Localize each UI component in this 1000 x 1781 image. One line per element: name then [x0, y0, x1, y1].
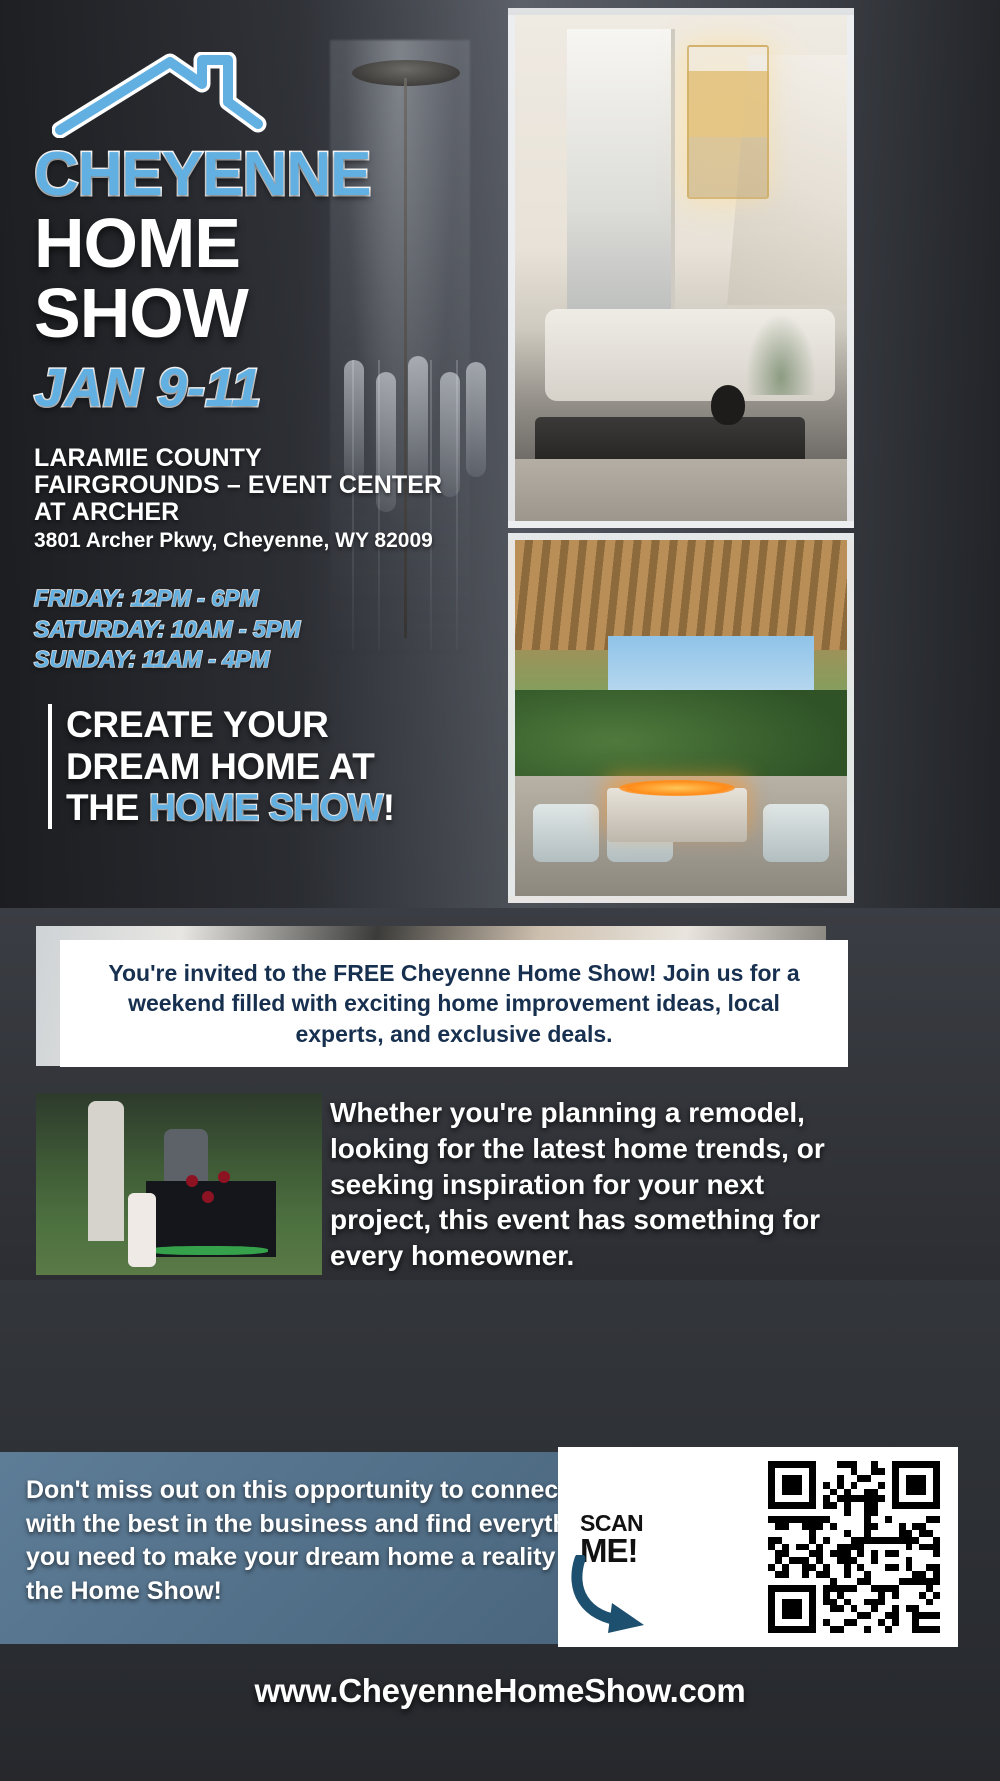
tagline-suffix: ! [383, 787, 395, 828]
qr-code-icon[interactable] [768, 1461, 940, 1633]
tagline-line-1: CREATE YOUR [66, 704, 504, 745]
vendor-booth-photo [36, 1093, 322, 1275]
venue-line-2: FAIRGROUNDS – EVENT CENTER [34, 472, 504, 499]
invite-callout: You're invited to the FREE Cheyenne Home… [60, 940, 848, 1067]
invite-text: You're invited to the FREE Cheyenne Home… [82, 958, 826, 1049]
booth-logo-shape [148, 1246, 268, 1255]
closing-panel: Don't miss out on this opportunity to co… [0, 1452, 648, 1644]
flame-icon [619, 780, 735, 796]
vase-shape [711, 385, 745, 425]
patio-chair-shape [533, 804, 599, 862]
footer-website-url[interactable]: www.CheyenneHomeShow.com [0, 1672, 1000, 1710]
event-dates: JAN 9-11 [34, 361, 504, 415]
rug-shape [515, 459, 847, 521]
brand-name-home: HOME [34, 211, 504, 275]
venue-line-3: AT ARCHER [34, 499, 504, 526]
show-hours-list: FRIDAY: 12PM - 6PM SATURDAY: 10AM - 5PM … [34, 583, 504, 674]
qr-card[interactable]: SCAN ME! [558, 1447, 958, 1647]
fire-pit-shape [607, 788, 747, 842]
tagline-line-3: THE HOME SHOW! [66, 787, 504, 828]
venue-address: 3801 Archer Pkwy, Cheyenne, WY 82009 [34, 529, 504, 553]
wood-ceiling-shape [515, 540, 847, 650]
tagline-prefix: THE [66, 787, 149, 828]
living-room-photo [508, 8, 854, 528]
patio-chair-shape [763, 804, 829, 862]
hours-saturday: SATURDAY: 10AM - 5PM [34, 614, 504, 644]
person-adult-shape [88, 1101, 124, 1241]
headline-block: CHEYENNE HOME SHOW JAN 9-11 LARAMIE COUN… [34, 52, 504, 829]
rose-shape [202, 1191, 214, 1203]
outdoor-patio-photo [508, 533, 854, 903]
tagline-block: CREATE YOUR DREAM HOME AT THE HOME SHOW! [48, 704, 504, 828]
tagline-highlight: HOME SHOW [149, 787, 383, 828]
brand-name-cheyenne: CHEYENNE [34, 145, 504, 205]
venue-block: LARAMIE COUNTY FAIRGROUNDS – EVENT CENTE… [34, 445, 504, 526]
house-roof-outline-icon [52, 52, 352, 138]
plant-shape [741, 305, 821, 395]
hours-friday: FRIDAY: 12PM - 6PM [34, 583, 504, 613]
venue-line-1: LARAMIE COUNTY [34, 445, 504, 472]
curved-arrow-icon [568, 1555, 664, 1635]
poster-root: CHEYENNE HOME SHOW JAN 9-11 LARAMIE COUN… [0, 0, 1000, 1781]
chandelier-fixture-icon [687, 45, 769, 199]
person-child-shape [128, 1193, 156, 1267]
brand-name-show: SHOW [34, 281, 504, 345]
story-text: Whether you're planning a remodel, looki… [330, 1095, 854, 1274]
window-shape [567, 29, 675, 329]
closing-text: Don't miss out on this opportunity to co… [0, 1452, 648, 1630]
rose-shape [218, 1171, 230, 1183]
tagline-line-2: DREAM HOME AT [66, 746, 504, 787]
rose-shape [186, 1175, 198, 1187]
hours-sunday: SUNDAY: 11AM - 4PM [34, 644, 504, 674]
